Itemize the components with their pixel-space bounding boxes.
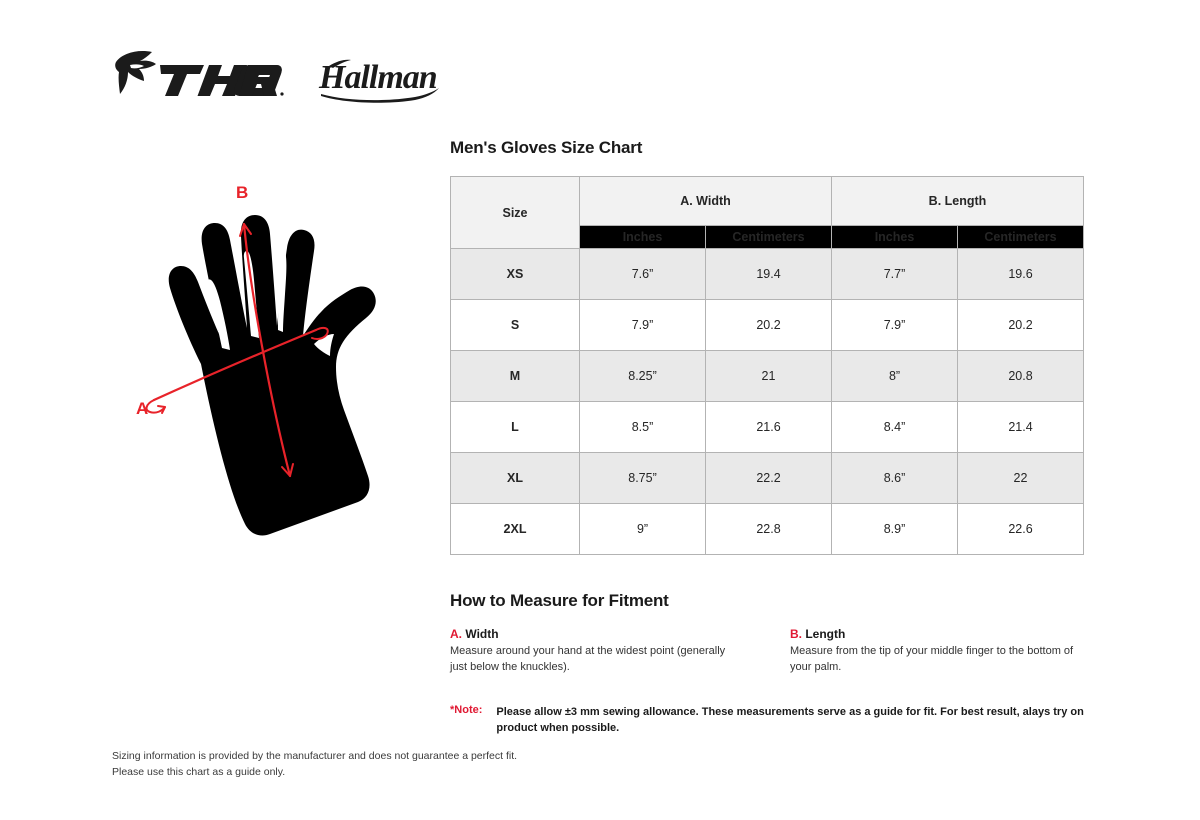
cell-length-centimeters: 22.6 — [958, 504, 1084, 555]
measure-name-width: Width — [465, 627, 498, 641]
thor-logo — [112, 48, 287, 109]
diagram-label-a: A — [136, 399, 148, 418]
cell-width-inches: 7.6” — [580, 249, 706, 300]
cell-size: M — [451, 351, 580, 402]
brand-logo-bar: Hallman — [112, 48, 450, 109]
footer-disclaimer: Sizing information is provided by the ma… — [112, 748, 517, 781]
cell-width-centimeters: 22.2 — [706, 453, 832, 504]
table-row: 2XL 9” 22.8 8.9” 22.6 — [451, 504, 1084, 555]
cell-width-centimeters: 22.8 — [706, 504, 832, 555]
footer-line-1: Sizing information is provided by the ma… — [112, 748, 517, 764]
cell-length-inches: 8.9” — [832, 504, 958, 555]
hand-silhouette — [169, 215, 376, 536]
measure-heading-length: B. Length — [790, 627, 1084, 641]
note-text: Please allow ±3 mm sewing allowance. The… — [496, 704, 1084, 737]
measure-item-length: B. Length Measure from the tip of your m… — [790, 627, 1084, 676]
diagram-label-b: B — [236, 183, 248, 202]
cell-length-centimeters: 20.8 — [958, 351, 1084, 402]
cell-length-centimeters: 19.6 — [958, 249, 1084, 300]
header-group-length: B. Length — [832, 177, 1084, 226]
glove-measurement-diagram: A B — [118, 168, 428, 548]
cell-width-inches: 8.5” — [580, 402, 706, 453]
size-chart-content: Men's Gloves Size Chart Size A. Width B.… — [450, 138, 1084, 737]
how-to-measure-section: How to Measure for Fitment A. Width Meas… — [450, 591, 1084, 737]
cell-width-centimeters: 19.4 — [706, 249, 832, 300]
header-width-centimeters: Centimeters — [706, 226, 832, 249]
how-to-measure-title: How to Measure for Fitment — [450, 591, 1084, 611]
cell-width-inches: 9” — [580, 504, 706, 555]
cell-length-centimeters: 20.2 — [958, 300, 1084, 351]
note-label: *Note: — [450, 704, 482, 737]
table-body: XS 7.6” 19.4 7.7” 19.6 S 7.9” 20.2 7.9” … — [451, 249, 1084, 555]
header-group-width: A. Width — [580, 177, 832, 226]
page-title: Men's Gloves Size Chart — [450, 138, 1084, 158]
cell-size: S — [451, 300, 580, 351]
measure-description-width: Measure around your hand at the widest p… — [450, 644, 744, 676]
cell-size: 2XL — [451, 504, 580, 555]
cell-length-inches: 8” — [832, 351, 958, 402]
cell-width-inches: 8.25” — [580, 351, 706, 402]
table-row: L 8.5” 21.6 8.4” 21.4 — [451, 402, 1084, 453]
table-row: M 8.25” 21 8” 20.8 — [451, 351, 1084, 402]
table-row: XL 8.75” 22.2 8.6” 22 — [451, 453, 1084, 504]
cell-length-inches: 7.9” — [832, 300, 958, 351]
cell-length-inches: 8.6” — [832, 453, 958, 504]
measure-name-length: Length — [805, 627, 845, 641]
measure-heading-width: A. Width — [450, 627, 744, 641]
table-row: XS 7.6” 19.4 7.7” 19.6 — [451, 249, 1084, 300]
cell-size: XS — [451, 249, 580, 300]
header-length-inches: Inches — [832, 226, 958, 249]
cell-size: XL — [451, 453, 580, 504]
measure-description-length: Measure from the tip of your middle fing… — [790, 644, 1084, 676]
note-row: *Note: Please allow ±3 mm sewing allowan… — [450, 704, 1084, 737]
cell-length-centimeters: 22 — [958, 453, 1084, 504]
table-row: S 7.9” 20.2 7.9” 20.2 — [451, 300, 1084, 351]
table-header: Size A. Width B. Length Inches Centimete… — [451, 177, 1084, 249]
header-length-centimeters: Centimeters — [958, 226, 1084, 249]
measure-marker-a: A. — [450, 627, 462, 641]
cell-length-inches: 7.7” — [832, 249, 958, 300]
cell-length-centimeters: 21.4 — [958, 402, 1084, 453]
cell-length-inches: 8.4” — [832, 402, 958, 453]
cell-width-inches: 7.9” — [580, 300, 706, 351]
header-width-inches: Inches — [580, 226, 706, 249]
measure-marker-b: B. — [790, 627, 802, 641]
measure-item-width: A. Width Measure around your hand at the… — [450, 627, 744, 676]
header-size: Size — [451, 177, 580, 249]
size-chart-table: Size A. Width B. Length Inches Centimete… — [450, 176, 1084, 555]
footer-line-2: Please use this chart as a guide only. — [112, 764, 517, 780]
cell-width-centimeters: 20.2 — [706, 300, 832, 351]
cell-width-inches: 8.75” — [580, 453, 706, 504]
cell-size: L — [451, 402, 580, 453]
cell-width-centimeters: 21 — [706, 351, 832, 402]
cell-width-centimeters: 21.6 — [706, 402, 832, 453]
hallman-logo: Hallman — [315, 52, 450, 109]
measure-columns: A. Width Measure around your hand at the… — [450, 627, 1084, 676]
